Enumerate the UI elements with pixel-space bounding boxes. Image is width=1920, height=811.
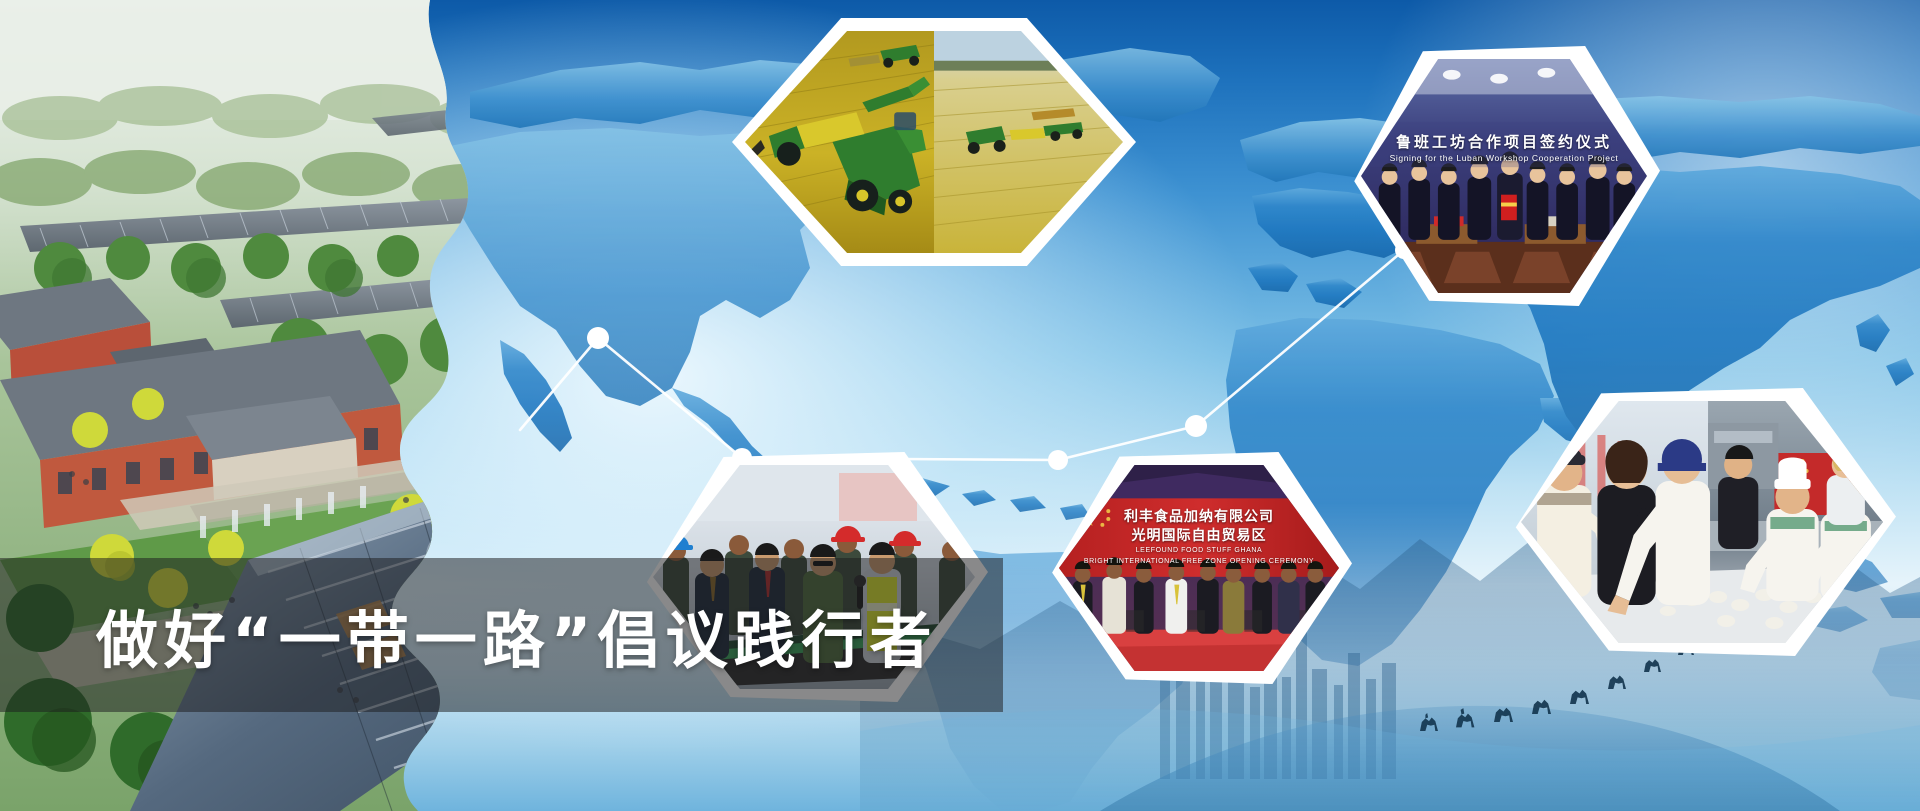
leefound-caption-en-2: BRIGHT INTERNATIONAL FREE ZONE OPENING C… [1059, 558, 1339, 565]
leefound-caption-en-1: LEEFOUND FOOD STUFF GHANA [1059, 547, 1339, 554]
title-overlay-band: 做好“一带一路”倡议践行者 [0, 558, 1003, 712]
page-title: 做好“一带一路”倡议践行者 [96, 590, 938, 680]
luban-caption-cn: 鲁班工坊合作项目签约仪式 [1361, 131, 1647, 152]
photo-harvester-wheat-field [732, 18, 1136, 266]
photo-luban-workshop-signing: 鲁班工坊合作项目签约仪式 Signing for the Luban Works… [1348, 46, 1660, 306]
photo-leefound-food-ghana: 利丰食品加纳有限公司 光明国际自由贸易区 LEEFOUND FOOD STUFF… [1046, 452, 1352, 684]
leefound-caption-cn-1: 利丰食品加纳有限公司 [1059, 506, 1339, 526]
photo-culinary-training [1508, 388, 1896, 656]
luban-caption-en: Signing for the Luban Workshop Cooperati… [1361, 153, 1647, 163]
leefound-caption-cn-2: 光明国际自由贸易区 [1059, 525, 1339, 545]
banner-image: 鲁班工坊合作项目签约仪式 Signing for the Luban Works… [0, 0, 1920, 811]
